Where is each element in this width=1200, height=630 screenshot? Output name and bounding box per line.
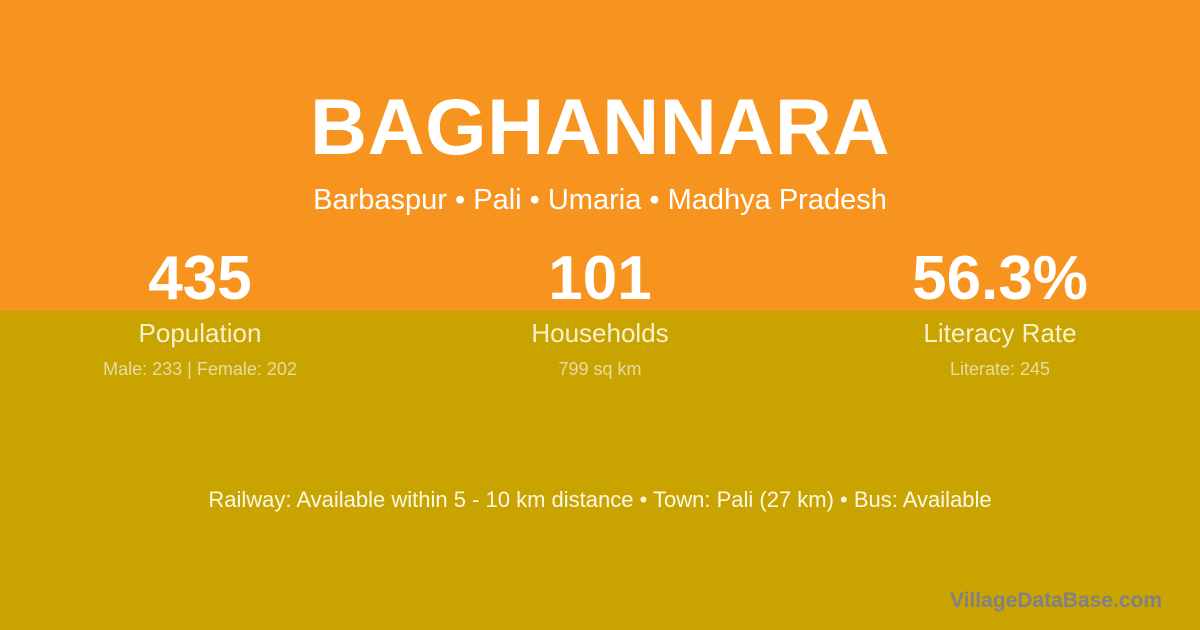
amenities-summary: Railway: Available within 5 - 10 km dist… (0, 486, 1200, 514)
stat-label: Households (400, 318, 800, 348)
stat-value: 101 (400, 246, 800, 312)
stat-sublabel: 799 sq km (400, 358, 800, 380)
site-watermark: VillageDataBase.com (950, 588, 1162, 614)
stat-value: 56.3% (800, 246, 1200, 312)
stat-value: 435 (0, 246, 400, 312)
breadcrumb: Barbaspur • Pali • Umaria • Madhya Prade… (0, 182, 1200, 218)
stat-label: Population (0, 318, 400, 348)
stat-label: Literacy Rate (800, 318, 1200, 348)
stat-literacy-rate: 56.3% Literacy Rate Literate: 245 (800, 246, 1200, 380)
stat-sublabel: Literate: 245 (800, 358, 1200, 380)
village-info-card: BAGHANNARA Barbaspur • Pali • Umaria • M… (0, 0, 1200, 630)
stats-row: 435 Population Male: 233 | Female: 202 1… (0, 246, 1200, 380)
stat-households: 101 Households 799 sq km (400, 246, 800, 380)
page-title: BAGHANNARA (0, 83, 1200, 171)
stat-sublabel: Male: 233 | Female: 202 (0, 358, 400, 380)
stat-population: 435 Population Male: 233 | Female: 202 (0, 246, 400, 380)
